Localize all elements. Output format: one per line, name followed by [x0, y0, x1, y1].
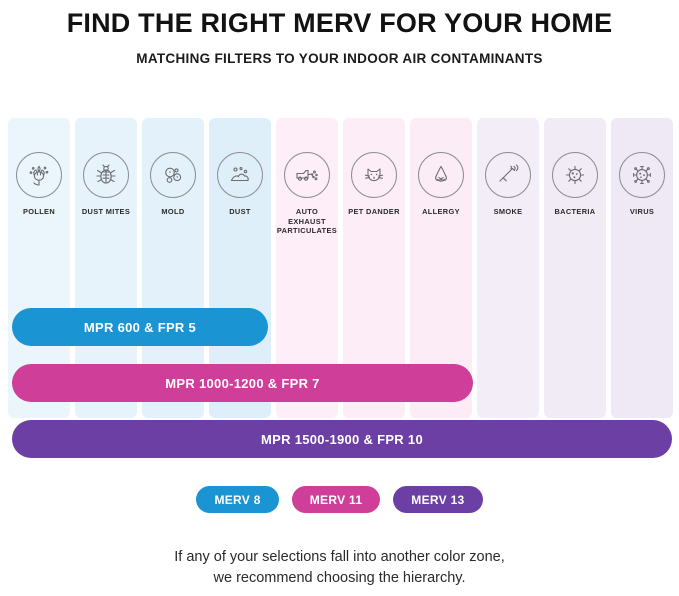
smoke-cigarette-icon — [485, 152, 531, 198]
contaminant-column-bacteria[interactable]: BACTERIA — [544, 118, 606, 418]
contaminant-label: PET DANDER — [343, 207, 405, 217]
page-title: FIND THE RIGHT MERV FOR YOUR HOME — [0, 7, 679, 39]
contaminant-label: MOLD — [142, 207, 204, 217]
contaminant-column-smoke[interactable]: SMOKE — [477, 118, 539, 418]
bar-mpr-1000-1200-fpr-7[interactable]: MPR 1000-1200 & FPR 7 — [12, 364, 473, 402]
contaminant-label: DUST — [209, 207, 271, 217]
legend-chip-merv-13[interactable]: MERV 13 — [393, 486, 482, 513]
pet-dander-icon — [351, 152, 397, 198]
contaminant-label: VIRUS — [611, 207, 673, 217]
auto-exhaust-icon — [284, 152, 330, 198]
contaminant-column-virus[interactable]: VIRUS — [611, 118, 673, 418]
footer-note: If any of your selections fall into anot… — [0, 547, 679, 589]
allergy-nose-icon — [418, 152, 464, 198]
contaminant-label: SMOKE — [477, 207, 539, 217]
bacteria-icon — [552, 152, 598, 198]
bar-mpr-1500-1900-fpr-10[interactable]: MPR 1500-1900 & FPR 10 — [12, 420, 672, 458]
footer-line-2: we recommend choosing the hierarchy. — [0, 568, 679, 589]
page-subtitle: MATCHING FILTERS TO YOUR INDOOR AIR CONT… — [0, 51, 679, 66]
virus-icon — [619, 152, 665, 198]
contaminant-label: POLLEN — [8, 207, 70, 217]
infographic-page: FIND THE RIGHT MERV FOR YOUR HOME MATCHI… — [0, 7, 679, 596]
merv-legend: MERV 8 MERV 11 MERV 13 — [0, 486, 679, 513]
contaminant-label: AUTO EXHAUST PARTICULATES — [276, 207, 338, 236]
contaminant-label: BACTERIA — [544, 207, 606, 217]
legend-chip-merv-11[interactable]: MERV 11 — [292, 486, 381, 513]
mold-icon — [150, 152, 196, 198]
dust-mite-icon — [83, 152, 129, 198]
bar-mpr-600-fpr-5[interactable]: MPR 600 & FPR 5 — [12, 308, 268, 346]
legend-chip-merv-8[interactable]: MERV 8 — [196, 486, 278, 513]
footer-line-1: If any of your selections fall into anot… — [0, 547, 679, 568]
contaminant-label: ALLERGY — [410, 207, 472, 217]
contaminant-label: DUST MITES — [75, 207, 137, 217]
pollen-icon — [16, 152, 62, 198]
dust-icon — [217, 152, 263, 198]
